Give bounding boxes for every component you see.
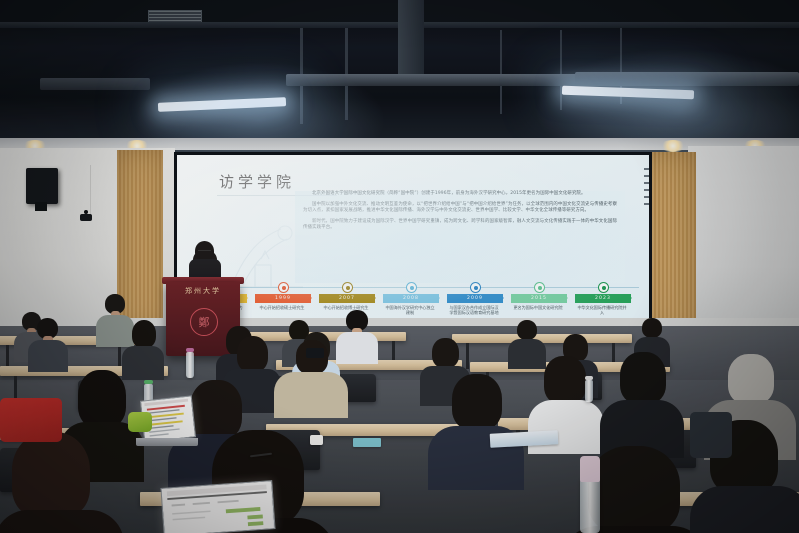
bottle-cap [144,380,153,384]
timeline-text: 中心开始招收硕士研究生 [257,305,307,310]
attendee-19 [600,352,684,448]
slide-paragraphs: 北京外国语大学国际中国文化研究院（简称“国中院”）创建于1996年，前身为海外汉… [295,191,625,232]
ceiling-light-2 [562,86,694,100]
laptop-1-base [136,438,198,446]
ceiling-light-1 [158,97,286,112]
attendee-17 [428,374,524,478]
timeline-text: 与国家汉办合作成立国际汉学暨国际汉语教育研究基地 [449,305,499,316]
timeline-dot-icon [471,283,480,292]
timeline-year: 2008 [383,294,439,303]
red-tote-bag [0,398,62,442]
attendee-4 [122,320,164,370]
university-seal-icon: 鄭 [190,308,218,336]
timeline-dot-icon [279,283,288,292]
water-bottle-4 [585,380,593,402]
timeline-dot-icon [535,283,544,292]
bottle-cap [585,376,593,380]
wall-speaker [26,168,58,204]
timeline-dot-icon [407,283,416,292]
screen-bezel-sensor [644,168,649,208]
timeline-year: 2015 [511,294,567,303]
water-bottle-3 [580,478,600,533]
slide-paragraph-1: 北京外国语大学国际中国文化研究院（简称“国中院”）创建于1996年，前身为海外汉… [303,191,617,198]
timeline-text: 中国海外汉学研究中心独立建制 [385,305,435,316]
timeline-year: 2007 [319,294,375,303]
wall-camera [80,214,92,221]
timeline-year: 1999 [255,294,311,303]
timeline-year: 2009 [447,294,503,303]
laptop-screen[interactable] [160,480,275,533]
timeline-dot-icon [599,283,608,292]
notebook-blue [353,438,381,447]
projection-screen[interactable]: 访学学院 北京外国语大学国际中国文化研究院（简称“国中院”）创建于1996年，前… [177,155,649,327]
attendee-front-left [0,432,124,533]
bottle-cap [580,456,600,482]
podium-university-name: 郑州大学 [166,286,240,296]
ceiling-wire [90,165,91,215]
ceiling [0,0,799,158]
timeline-dot-icon [343,283,352,292]
laptop-2[interactable] [160,480,275,533]
timeline-text: 更名为国际中国文化研究院 [513,305,563,310]
right-wall [688,146,799,346]
attendee-2 [28,318,68,364]
slide-paragraph-2: 国中院以加强中外文化交流、推动文明互鉴为使命，以“把世界介绍给中国”与“把中国介… [303,202,617,215]
bottle-cap [186,348,194,352]
phone-camera-device [306,348,324,358]
water-bottle-1 [186,352,194,378]
backpack [690,412,732,458]
timeline-year: 2023 [575,294,631,303]
ceiling-duct-upper [286,74,586,86]
slide-title: 访学学院 [219,171,295,192]
timeline-text: 中华文化国际传播研究院并入 [577,305,627,316]
slide-body: 北京外国语大学国际中国文化研究院（简称“国中院”）创建于1996年，前身为海外汉… [295,191,625,283]
slide-paragraph-3: 新时代，国中院致力于建设成为国际汉学、世界中国学研究重镇，成为跨文化、跨学科的国… [303,219,617,232]
lecture-hall-photo: 访学学院 北京外国语大学国际中国文化研究院（简称“国中院”）创建于1996年，前… [0,0,799,533]
desk-cup [310,435,323,445]
presenter-glasses-icon [198,250,211,254]
downlight-3 [660,140,686,152]
green-pouch [128,412,152,432]
